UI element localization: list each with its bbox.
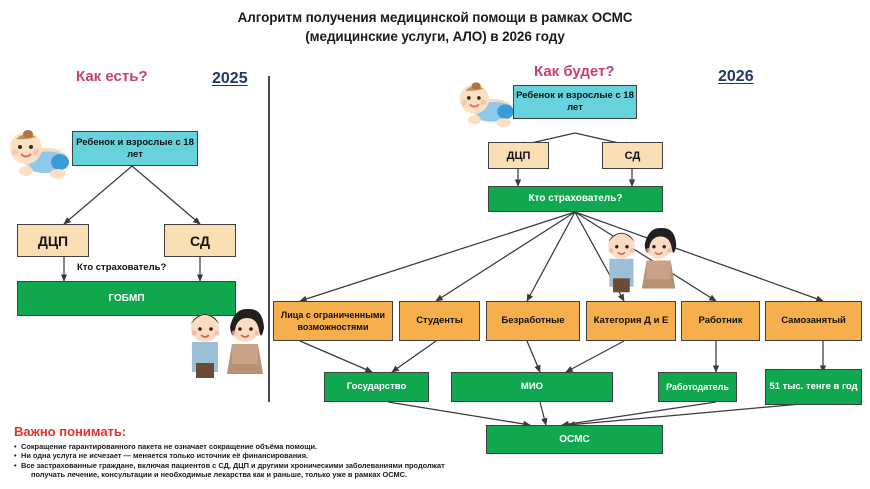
category-label-disabled: Лица с ограниченными возможностями — [274, 309, 392, 333]
right-root-label: Ребенок и взрослые с 18 лет — [514, 90, 636, 114]
payer-box-mio: МИО — [451, 372, 613, 402]
payer-box-state: Государство — [324, 372, 429, 402]
right-branch-box-sd: СД — [602, 142, 663, 169]
left-branch-box-sd: СД — [164, 224, 236, 257]
left-result-label-gobmp: ГОБМП — [108, 293, 144, 305]
left-insurer-question: Кто страхователь? — [77, 262, 166, 273]
page-title: Алгоритм получения медицинской помощи в … — [0, 8, 870, 46]
left-root-box: Ребенок и взрослые с 18 лет — [72, 131, 198, 166]
category-box-worker: Работник — [681, 301, 760, 341]
payer-label-employer: Работодатель — [666, 381, 729, 393]
category-label-selfemployed: Самозанятый — [781, 315, 846, 327]
right-branch-label-sd: СД — [625, 150, 641, 162]
page-title-line1: Алгоритм получения медицинской помощи в … — [0, 8, 870, 27]
left-panel-heading: Как есть? — [76, 68, 148, 85]
category-box-category-de: Категория Д и Е — [586, 301, 676, 341]
final-label-osms: ОСМС — [559, 434, 589, 446]
payer-label-state: Государство — [347, 381, 407, 393]
footer-note-item-continued: получать лечение, консультации и необход… — [14, 470, 534, 479]
category-label-unemployed: Безработные — [501, 315, 564, 327]
payer-box-employer: Работодатель — [658, 372, 737, 402]
panel-divider — [268, 76, 270, 402]
category-box-disabled: Лица с ограниченными возможностями — [273, 301, 393, 341]
left-branch-box-dcp: ДЦП — [17, 224, 89, 257]
footer-notes: Важно понимать: Сокращение гарантированн… — [14, 424, 534, 480]
right-branch-label-dcp: ДЦП — [507, 150, 531, 162]
category-label-students: Студенты — [416, 315, 463, 327]
adult-couple-illustration — [182, 300, 268, 378]
right-root-box: Ребенок и взрослые с 18 лет — [513, 85, 637, 119]
payer-label-annual-fee: 51 тыс. тенге в год — [769, 381, 857, 393]
category-box-students: Студенты — [399, 301, 480, 341]
footer-heading: Важно понимать: — [14, 424, 534, 439]
category-box-unemployed: Безработные — [486, 301, 580, 341]
right-panel-heading: Как будет? — [534, 63, 615, 80]
footer-note-item: Сокращение гарантированного пакета не оз… — [14, 442, 534, 451]
category-box-selfemployed: Самозанятый — [765, 301, 862, 341]
adult-couple-illustration — [600, 212, 680, 300]
footer-note-item: Ни одна услуга не исчезает — меняется то… — [14, 451, 534, 460]
category-label-category-de: Категория Д и Е — [594, 315, 669, 327]
footer-note-item: Все застрахованные граждане, включая пац… — [14, 461, 534, 470]
right-panel-year: 2026 — [718, 68, 754, 86]
right-insurer-question-box: Кто страхователь? — [488, 186, 663, 212]
page-title-line2: (медицинские услуги, АЛО) в 2026 году — [0, 27, 870, 46]
payer-label-mio: МИО — [521, 381, 543, 393]
footer-note-list: Сокращение гарантированного пакета не оз… — [14, 442, 534, 480]
right-branch-box-dcp: ДЦП — [488, 142, 549, 169]
category-label-worker: Работник — [699, 315, 743, 327]
slide-canvas: Алгоритм получения медицинской помощи в … — [0, 0, 870, 489]
left-branch-label-dcp: ДЦП — [38, 235, 68, 247]
left-panel-year: 2025 — [212, 70, 248, 88]
crawling-baby-illustration — [6, 122, 78, 182]
left-branch-label-sd: СД — [190, 235, 210, 247]
left-root-label: Ребенок и взрослые с 18 лет — [73, 137, 197, 161]
right-insurer-question-label: Кто страхователь? — [529, 193, 623, 205]
payer-box-annual-fee: 51 тыс. тенге в год — [765, 369, 862, 405]
